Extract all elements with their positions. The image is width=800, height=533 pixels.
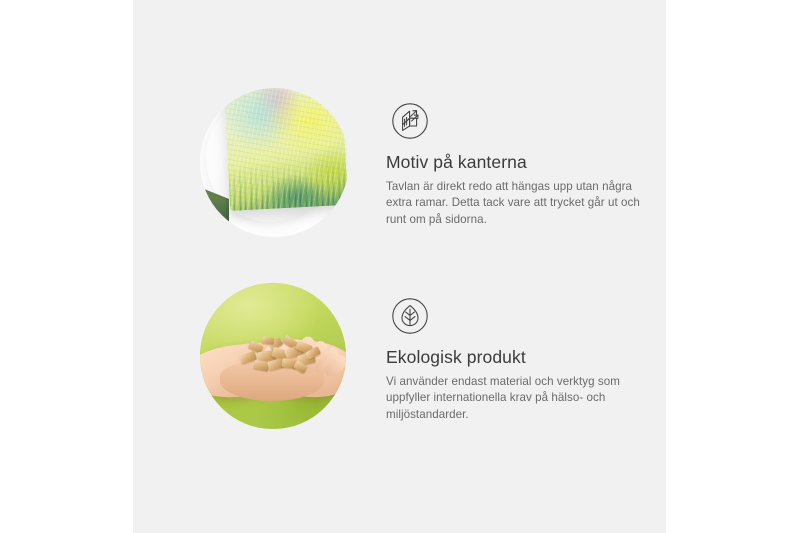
feature-title: Motiv på kanterna bbox=[386, 152, 654, 173]
product-info-banner: Motiv på kanterna Tavlan är direkt redo … bbox=[0, 0, 800, 533]
feature-copy: Motiv på kanterna Tavlan är direkt redo … bbox=[386, 152, 654, 228]
hands-holding-wood-chips-photo bbox=[200, 283, 346, 429]
paint-drip-overlay bbox=[228, 159, 348, 211]
wood-chips bbox=[238, 335, 322, 379]
feature-description: Vi använder endast material och verktyg … bbox=[386, 374, 654, 423]
feature-description: Tavlan är direkt redo att hängas upp uta… bbox=[386, 179, 654, 228]
feature-block-motiv-pa-kanterna: Motiv på kanterna Tavlan är direkt redo … bbox=[133, 72, 666, 252]
content-panel: Motiv på kanterna Tavlan är direkt redo … bbox=[133, 0, 666, 533]
leaf-icon bbox=[391, 297, 429, 335]
canvas-print-artwork bbox=[224, 88, 348, 211]
feature-block-ekologisk-produkt: Ekologisk produkt Vi använder endast mat… bbox=[133, 267, 666, 447]
feature-copy: Ekologisk produkt Vi använder endast mat… bbox=[386, 347, 654, 423]
feature-title: Ekologisk produkt bbox=[386, 347, 654, 368]
canvas-wrap-edge-icon bbox=[391, 102, 429, 140]
canvas-print-corner-photo bbox=[200, 88, 349, 237]
